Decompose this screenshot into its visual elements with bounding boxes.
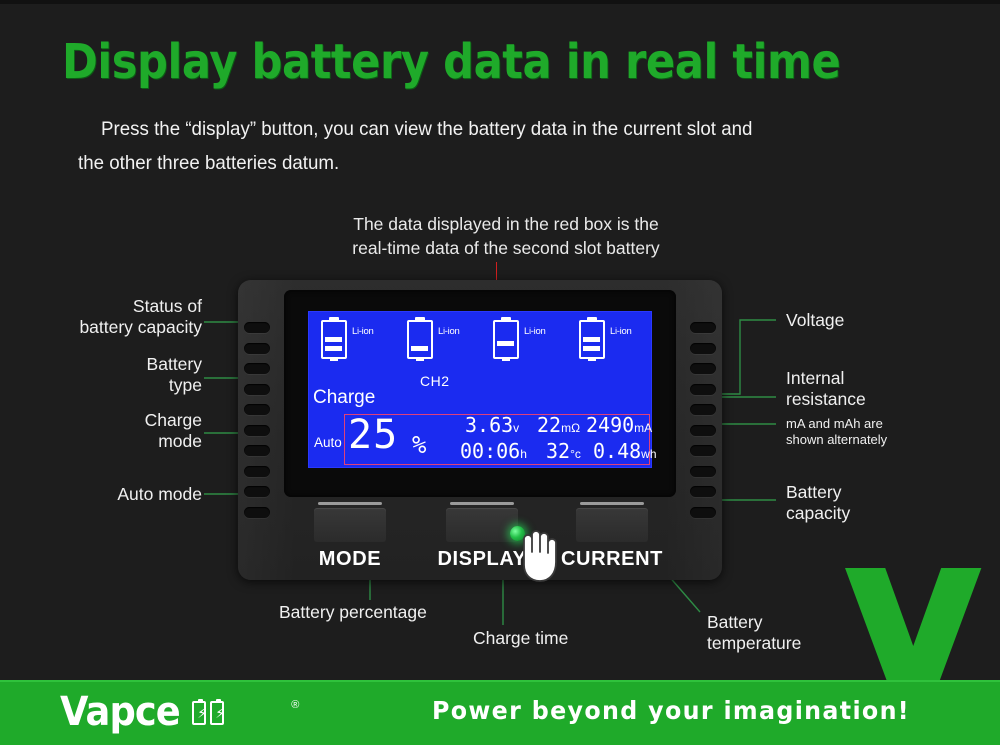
vent-slot — [690, 486, 716, 497]
voltage-value: 3.63 — [465, 413, 513, 437]
channel-label: CH2 — [420, 373, 450, 389]
battery-slot-2: Li-ion — [394, 315, 480, 373]
battery-type-label: Li-ion — [438, 326, 459, 337]
annotation-line-1: Battery — [40, 354, 202, 375]
battery-foot — [330, 359, 338, 361]
annotation-voltage: Voltage — [786, 310, 986, 331]
annotation-battery-temperature: Battery temperature — [707, 612, 887, 654]
annotation-line-1: Status of — [40, 296, 202, 317]
battery-body — [579, 320, 605, 359]
annotation-battery-capacity: Battery capacity — [786, 482, 986, 524]
battery-foot — [588, 359, 596, 361]
annotation-auto-mode: Auto mode — [40, 484, 202, 505]
battery-body — [321, 320, 347, 359]
energy-unit: wh — [641, 447, 656, 461]
vents-right — [690, 322, 716, 527]
intro-line-1: Press the “display” button, you can view… — [101, 118, 752, 140]
vent-slot — [244, 445, 270, 456]
footer-bar: Vapce ⚡ ⚡ ® Power beyond your imaginatio… — [0, 680, 1000, 745]
red-box-caption-line-2: real-time data of the second slot batter… — [296, 237, 716, 261]
battery-slot-3: Li-ion — [480, 315, 566, 373]
annotation-line-1: Battery — [707, 612, 887, 633]
annotation-battery-type: Battery type — [40, 354, 202, 396]
battery-segment — [325, 346, 342, 351]
battery-foot — [502, 359, 510, 361]
vent-slot — [244, 322, 270, 333]
temperature-unit: °c — [570, 447, 581, 461]
current-value: 2490 — [586, 413, 634, 437]
current-readout: 2490mA — [586, 415, 652, 435]
logo-battery-icon: ⚡ — [210, 701, 224, 725]
annotation-line-2: temperature — [707, 633, 887, 654]
battery-foot — [416, 359, 424, 361]
battery-icon — [407, 317, 433, 361]
annotation-line-1: Battery percentage — [279, 602, 499, 623]
auto-mode-indicator: Auto — [314, 435, 342, 450]
battery-segment — [583, 346, 600, 351]
resistance-value: 22 — [537, 413, 561, 437]
page-title: Display battery data in real time — [62, 38, 840, 86]
intro-line-2: the other three batteries datum. — [78, 152, 339, 174]
button-row: MODE DISPLAY CURRENT — [238, 508, 722, 570]
voltage-readout: 3.63v — [465, 415, 519, 435]
battery-icon — [493, 317, 519, 361]
annotation-line-1: Charge — [40, 410, 202, 431]
vent-slot — [690, 363, 716, 374]
annotation-battery-percentage: Battery percentage — [279, 602, 499, 623]
hand-cursor-icon — [510, 522, 574, 584]
battery-body — [407, 320, 433, 359]
battery-type-label: Li-ion — [352, 326, 373, 337]
mode-button[interactable] — [314, 508, 386, 542]
annotation-charge-mode: Charge mode — [40, 410, 202, 452]
battery-segment — [325, 337, 342, 342]
annotation-line-1: mA and mAh are — [786, 416, 996, 432]
annotation-line-1: Auto mode — [40, 484, 202, 505]
battery-segment — [583, 337, 600, 342]
annotation-line-2: shown alternately — [786, 432, 996, 448]
battery-slot-row: Li-ion Li-ion — [308, 315, 652, 373]
mode-button-label: MODE — [285, 548, 415, 571]
display-button[interactable] — [446, 508, 518, 542]
vent-slot — [244, 404, 270, 415]
footer-hairline — [0, 680, 1000, 682]
battery-percentage-value: 25 — [348, 415, 398, 455]
charge-time-readout: 00:06h — [460, 441, 527, 461]
annotation-line-1: Charge time — [473, 628, 653, 649]
annotation-line-2: battery capacity — [40, 317, 202, 338]
vent-slot — [690, 322, 716, 333]
red-box-caption-line-1: The data displayed in the red box is the — [296, 213, 716, 237]
percent-unit: % — [412, 431, 426, 459]
battery-charger-device: Li-ion Li-ion — [238, 280, 722, 580]
battery-icon — [579, 317, 605, 361]
current-button[interactable] — [576, 508, 648, 542]
annotation-line-2: type — [40, 375, 202, 396]
annotation-status-of-battery-capacity: Status of battery capacity — [40, 296, 202, 338]
vent-slot — [690, 445, 716, 456]
annotation-line-1: Internal — [786, 368, 986, 389]
vent-slot — [690, 404, 716, 415]
energy-value: 0.48 — [593, 439, 641, 463]
annotation-line-1: Battery — [786, 482, 986, 503]
energy-readout: 0.48wh — [593, 441, 657, 461]
registered-trademark-mark: ® — [291, 699, 299, 711]
button-highlight — [450, 502, 514, 505]
battery-type-label: Li-ion — [610, 326, 631, 337]
logo-battery-icons: ⚡ ⚡ ® — [191, 697, 227, 727]
vent-slot — [244, 363, 270, 374]
temperature-value: 32 — [546, 439, 570, 463]
vent-slot — [244, 343, 270, 354]
intro-paragraph: Press the “display” button, you can view… — [78, 112, 894, 180]
battery-slot-1: Li-ion — [308, 315, 394, 373]
battery-type-label: Li-ion — [524, 326, 545, 337]
annotation-charge-time: Charge time — [473, 628, 653, 649]
vapcell-logo: Vapce ⚡ ⚡ ® — [60, 690, 227, 734]
vent-slot — [244, 466, 270, 477]
temperature-readout: 32°c — [546, 441, 581, 461]
battery-slot-4: Li-ion — [566, 315, 652, 373]
battery-segment — [411, 346, 428, 351]
footer-tagline: Power beyond your imagination! — [432, 696, 910, 725]
vents-left — [244, 322, 270, 527]
current-unit: mA — [634, 421, 652, 435]
annotation-line-2: resistance — [786, 389, 986, 410]
annotation-ma-mah-alternately: mA and mAh are shown alternately — [786, 416, 996, 448]
battery-segment — [497, 341, 514, 346]
vent-slot — [690, 384, 716, 395]
voltage-unit: v — [513, 421, 519, 435]
annotation-line-2: mode — [40, 431, 202, 452]
button-highlight — [580, 502, 644, 505]
charge-time-value: 00:06 — [460, 439, 520, 463]
annotation-line-1: Voltage — [786, 310, 986, 331]
internal-resistance-readout: 22mΩ — [537, 415, 580, 435]
annotation-internal-resistance: Internal resistance — [786, 368, 986, 410]
lcd-bezel: Li-ion Li-ion — [284, 290, 676, 497]
logo-wordmark: Vapce — [60, 692, 180, 732]
red-box-caption: The data displayed in the red box is the… — [296, 213, 716, 260]
lcd-screen: Li-ion Li-ion — [308, 311, 652, 468]
vent-slot — [244, 384, 270, 395]
vent-slot — [690, 343, 716, 354]
button-highlight — [318, 502, 382, 505]
slide-background: V Display battery data in real time Pres… — [0, 0, 1000, 745]
vent-slot — [690, 425, 716, 436]
vent-slot — [244, 425, 270, 436]
top-edge-strip — [0, 0, 1000, 4]
charge-time-unit: h — [520, 447, 527, 461]
resistance-unit: mΩ — [561, 421, 580, 435]
vent-slot — [690, 466, 716, 477]
annotation-line-2: capacity — [786, 503, 986, 524]
charge-mode-indicator: Charge — [313, 387, 375, 409]
battery-body — [493, 320, 519, 359]
battery-icon — [321, 317, 347, 361]
vent-slot — [244, 486, 270, 497]
logo-battery-icon: ⚡ — [192, 701, 206, 725]
